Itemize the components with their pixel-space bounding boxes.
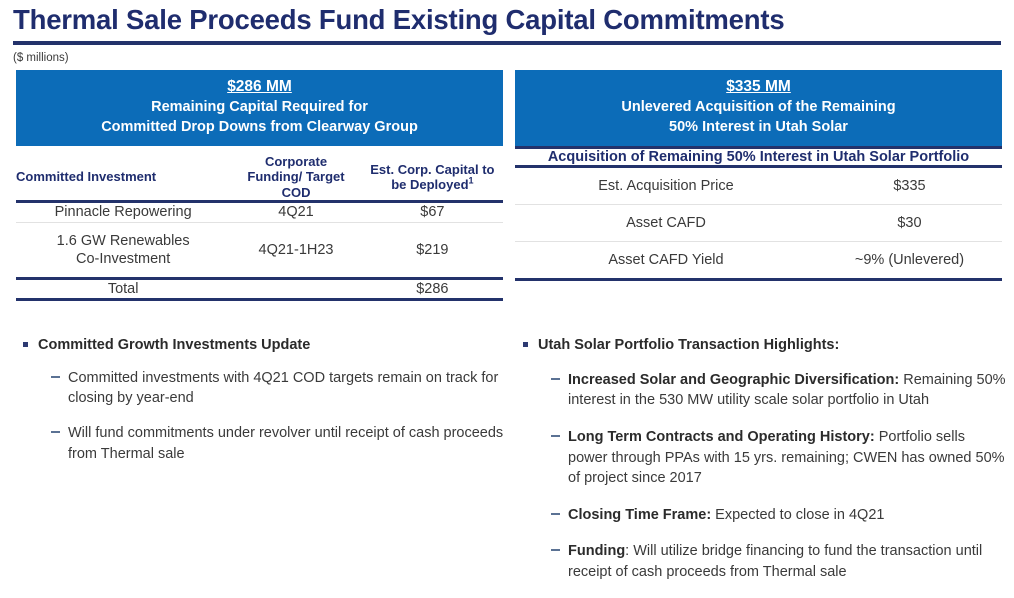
table-spacer (16, 146, 503, 154)
bullet-heading-text: Utah Solar Portfolio Transaction Highlig… (538, 337, 839, 353)
right-panel-header-line2: 50% Interest in Utah Solar (521, 118, 996, 137)
bullet-item-label: Closing Time Frame: (568, 507, 711, 523)
row-label: Est. Acquisition Price (515, 168, 817, 204)
row-investment-line1: 1.6 GW Renewables (20, 232, 226, 250)
row-cod: 4Q21 (230, 203, 361, 221)
units-label: ($ millions) (13, 52, 69, 64)
row-capital: $67 (362, 203, 503, 221)
right-table-header: Acquisition of Remaining 50% Interest in… (515, 149, 1002, 165)
bullet-item-label: Increased Solar and Geographic Diversifi… (568, 372, 899, 388)
column-header-investment-text: Committed Investment (16, 169, 156, 184)
bullet-heading: Utah Solar Portfolio Transaction Highlig… (516, 336, 1008, 355)
right-bullets: Utah Solar Portfolio Transaction Highlig… (516, 336, 1008, 598)
dash-bullet-icon (551, 513, 560, 515)
bullet-item-label: Long Term Contracts and Operating Histor… (568, 429, 875, 445)
left-panel-header-line2: Committed Drop Downs from Clearway Group (22, 118, 497, 137)
dash-bullet-icon (51, 431, 60, 433)
table-total-row: Total $286 (16, 280, 503, 298)
column-header-cod: Corporate Funding/ Target COD (230, 154, 361, 201)
left-panel-header-box: $286 MM Remaining Capital Required for C… (16, 70, 503, 146)
rule-navy-bottom (515, 278, 1002, 281)
table-row: Asset CAFD $30 (515, 205, 1002, 241)
left-panel-header-line1: Remaining Capital Required for (22, 98, 497, 117)
table-row: Pinnacle Repowering 4Q21 $67 (16, 203, 503, 221)
row-value: $335 (817, 168, 1002, 204)
column-header-capital: Est. Corp. Capital to be Deployed1 (362, 154, 503, 201)
slide: Thermal Sale Proceeds Fund Existing Capi… (0, 0, 1014, 585)
rule-navy (16, 298, 503, 301)
row-label: Asset CAFD Yield (515, 242, 817, 278)
column-header-capital-line2: be Deployed1 (362, 177, 503, 193)
bullet-item-text: Expected to close in 4Q21 (711, 507, 884, 523)
total-label: Total (16, 280, 230, 298)
dash-bullet-icon (51, 376, 60, 378)
row-investment-name: 1.6 GW Renewables Co-Investment (16, 223, 230, 277)
bullet-item: Increased Solar and Geographic Diversifi… (516, 370, 1008, 411)
square-bullet-icon (23, 342, 28, 347)
row-value: $30 (817, 205, 1002, 241)
table-row: Est. Acquisition Price $335 (515, 168, 1002, 204)
dash-bullet-icon (551, 549, 560, 551)
bullet-item-text: Committed investments with 4Q21 COD targ… (68, 370, 498, 407)
rule-navy-bottom (16, 298, 503, 301)
dash-bullet-icon (551, 378, 560, 380)
bullet-item-text: : Will utilize bridge financing to fund … (568, 543, 982, 580)
row-label: Asset CAFD (515, 205, 817, 241)
bullet-heading-text: Committed Growth Investments Update (38, 337, 310, 353)
column-header-cod-line3: COD (230, 185, 361, 201)
column-header-capital-line2-text: be Deployed (391, 177, 468, 192)
right-panel: $335 MM Unlevered Acquisition of the Rem… (515, 70, 1002, 281)
table-row: Asset CAFD Yield ~9% (Unlevered) (515, 242, 1002, 278)
column-header-investment: Committed Investment (16, 154, 230, 201)
square-bullet-icon (523, 342, 528, 347)
column-header-capital-line1: Est. Corp. Capital to (362, 162, 503, 178)
footnote-marker: 1 (469, 176, 474, 186)
row-capital: $219 (362, 223, 503, 277)
column-header-cod-line1: Corporate (230, 154, 361, 170)
left-bullets: Committed Growth Investments Update Comm… (16, 336, 506, 478)
table-row: 1.6 GW Renewables Co-Investment 4Q21-1H2… (16, 223, 503, 277)
total-cod (230, 280, 361, 298)
bullet-item: Long Term Contracts and Operating Histor… (516, 427, 1008, 489)
row-value: ~9% (Unlevered) (817, 242, 1002, 278)
rule-navy (515, 278, 1002, 281)
bullet-item: Closing Time Frame: Expected to close in… (516, 505, 1008, 526)
right-panel-header-box: $335 MM Unlevered Acquisition of the Rem… (515, 70, 1002, 146)
row-investment-line2: Co-Investment (20, 250, 226, 268)
row-cod: 4Q21-1H23 (230, 223, 361, 277)
title-divider (13, 41, 1001, 45)
page-title: Thermal Sale Proceeds Fund Existing Capi… (13, 4, 784, 36)
bullet-item-label: Funding (568, 543, 625, 559)
committed-investments-table: Committed Investment Corporate Funding/ … (16, 146, 503, 301)
row-investment-name: Pinnacle Repowering (16, 203, 230, 221)
bullet-heading: Committed Growth Investments Update (16, 336, 506, 355)
left-panel-amount: $286 MM (22, 77, 497, 97)
total-capital: $286 (362, 280, 503, 298)
right-panel-amount: $335 MM (521, 77, 996, 97)
left-panel: $286 MM Remaining Capital Required for C… (16, 70, 503, 301)
bullet-item-text: Will fund commitments under revolver unt… (68, 425, 503, 462)
table-header-row: Acquisition of Remaining 50% Interest in… (515, 149, 1002, 165)
table-header-row: Committed Investment Corporate Funding/ … (16, 154, 503, 201)
dash-bullet-icon (551, 435, 560, 437)
bullet-item: Funding: Will utilize bridge financing t… (516, 541, 1008, 582)
column-header-cod-line2: Funding/ Target (230, 169, 361, 185)
bullet-item: Committed investments with 4Q21 COD targ… (16, 368, 506, 409)
utah-solar-acquisition-table: Acquisition of Remaining 50% Interest in… (515, 146, 1002, 281)
bullet-item: Will fund commitments under revolver unt… (16, 423, 506, 464)
right-panel-header-line1: Unlevered Acquisition of the Remaining (521, 98, 996, 117)
